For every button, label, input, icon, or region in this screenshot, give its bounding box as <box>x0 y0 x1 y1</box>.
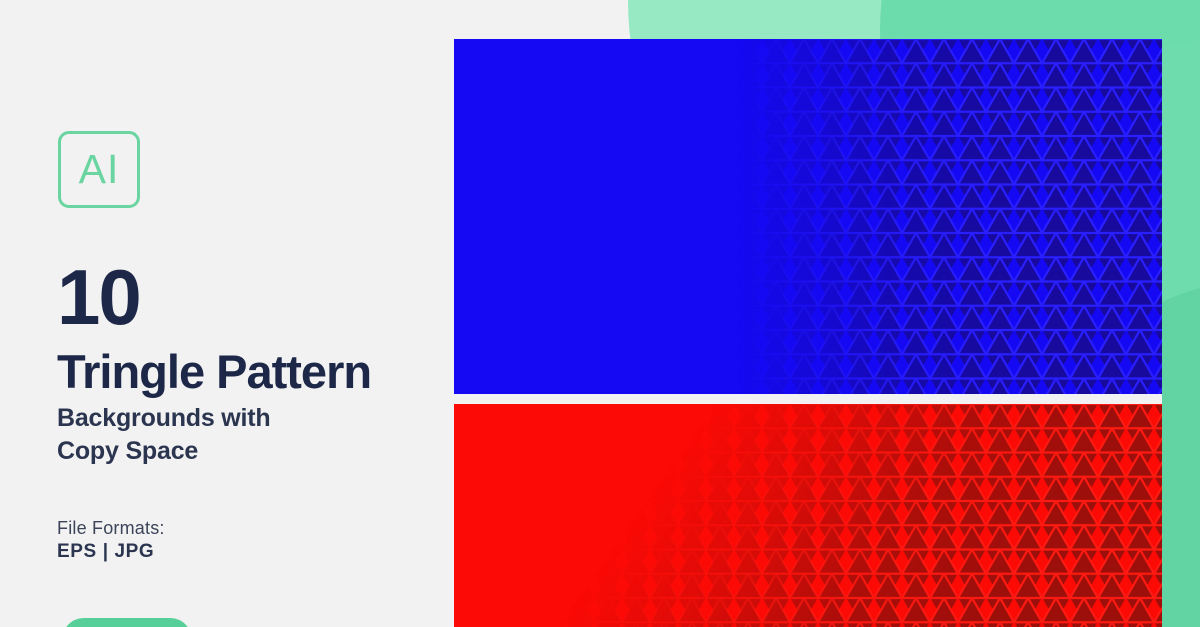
card-gap-divider <box>454 394 1162 404</box>
banner-canvas: AI 10 Tringle Pattern Backgrounds with C… <box>0 0 1200 627</box>
cta-button[interactable] <box>62 618 192 627</box>
page-subtitle: Backgrounds with Copy Space <box>57 402 271 468</box>
subtitle-line-1: Backgrounds with <box>57 402 271 435</box>
file-formats-value: EPS | JPG <box>57 541 154 563</box>
page-title: Tringle Pattern <box>57 348 371 395</box>
red-triangle-lattice-lines <box>454 404 1162 627</box>
badge-label: AI <box>79 149 120 190</box>
adobe-illustrator-badge-icon: AI <box>58 131 140 208</box>
subtitle-line-2: Copy Space <box>57 435 271 468</box>
blue-triangle-pattern-card[interactable] <box>454 39 1162 394</box>
file-formats-label: File Formats: <box>57 518 165 539</box>
item-count: 10 <box>57 258 140 336</box>
info-panel: AI 10 Tringle Pattern Backgrounds with C… <box>0 0 454 627</box>
red-triangle-pattern-card[interactable] <box>454 404 1162 627</box>
blue-triangle-lattice-lines <box>454 39 1162 394</box>
